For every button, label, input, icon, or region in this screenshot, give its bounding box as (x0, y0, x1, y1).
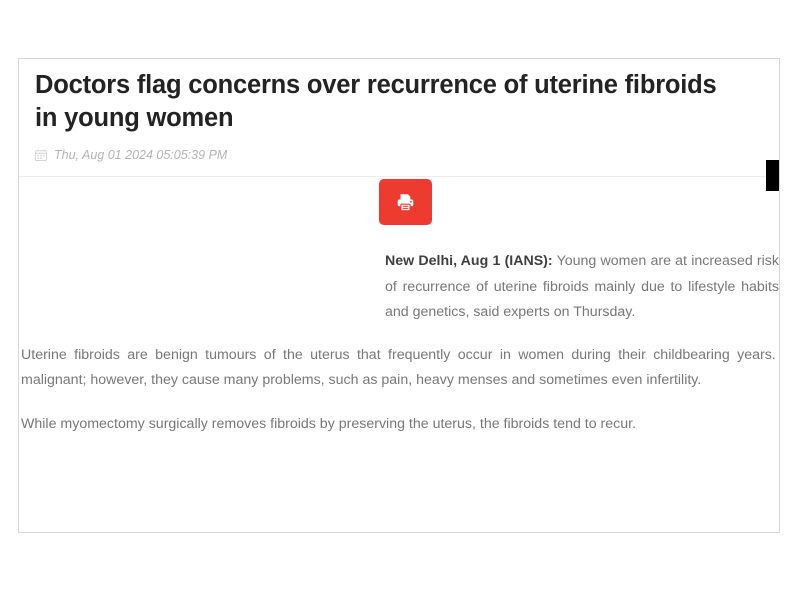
broken-image-placeholder (766, 160, 780, 191)
page-title: Doctors flag concerns over recurrence of… (35, 69, 763, 134)
headline-line-2: in young women (35, 102, 763, 135)
article-figure-placeholder (19, 249, 385, 311)
article-meta: Thu, Aug 01 2024 05:05:39 PM (35, 148, 763, 176)
article-paragraph: While myomectomy surgically removes fibr… (19, 412, 779, 437)
article-paragraph: Uterine fibroids are benign tumours of t… (19, 343, 780, 394)
article-body: New Delhi, Aug 1 (IANS): Young women are… (19, 249, 779, 437)
article-card: Doctors flag concerns over recurrence of… (18, 58, 780, 533)
paragraph-spacer (19, 394, 779, 412)
headline-line-1: Doctors flag concerns over recurrence of… (35, 69, 763, 102)
paragraph-lead-in: New Delhi, Aug 1 (IANS): (385, 253, 553, 269)
article-timestamp: Thu, Aug 01 2024 05:05:39 PM (54, 148, 227, 162)
printer-icon (395, 192, 416, 213)
article-toolbar (19, 177, 779, 249)
article-header: Doctors flag concerns over recurrence of… (19, 59, 779, 176)
print-button[interactable] (379, 179, 432, 225)
paragraph-spacer (19, 325, 779, 343)
calendar-icon (35, 149, 47, 161)
